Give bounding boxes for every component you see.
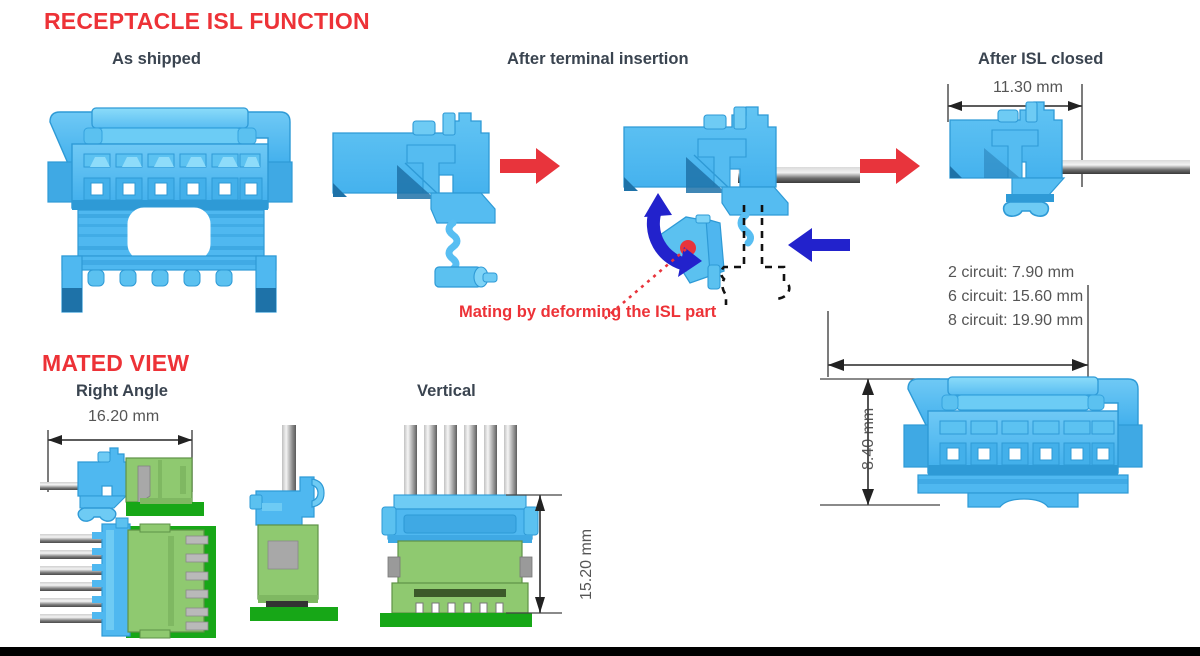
side-view-terminal-inserted-figure [620,105,860,305]
receptacle-front-dimensioned-figure [820,285,1200,525]
panel-title-vertical: Vertical [417,382,476,401]
process-arrow-2 [860,148,920,184]
isl-arm [431,193,495,223]
cavity-row-upper [84,154,260,167]
isl-part-closed [1004,194,1054,216]
dimension-label-vertical-height: 15.20 mm [578,529,596,600]
cable-bundle [40,534,110,623]
push-arrow [788,228,850,262]
cable-lead [1060,160,1190,174]
receptacle-front-view [904,377,1142,507]
receptacle-housing-side [624,107,788,215]
process-arrow-1 [500,148,560,184]
isl-flexible-hinge [449,223,457,269]
panel-title-as-shipped: As shipped [112,50,201,69]
receptacle-isl-function-title: RECEPTACLE ISL FUNCTION [44,8,370,35]
vertical-mated-side-figure [250,425,360,625]
connector-body [72,144,268,210]
dimension-label-2-circuit: 2 circuit: 7.90 mm [948,264,1074,282]
connector-mid-band [78,208,264,260]
isl-closed-dashed-outline [721,205,789,305]
receptacle-housing-side [333,113,489,199]
dimension-label-right-angle-width: 16.20 mm [88,408,159,426]
cable-bundle [404,425,517,503]
dimension-label-isl-closed-width: 11.30 mm [993,79,1063,97]
bottom-bar [0,647,1200,656]
blue-connector-front [382,495,538,543]
mating-note-text: Mating by deforming the ISL part [459,303,716,322]
side-view-isl-open-figure [325,105,515,290]
isl-flexible-hinge [741,215,751,243]
as-shipped-connector-figure [40,100,300,315]
connector-legs [62,256,276,312]
receptacle-housing-side [950,102,1064,196]
vertical-mated-figure [380,425,570,630]
isl-part-open [435,267,497,287]
right-angle-plan-view [40,518,216,638]
green-header-side [258,525,318,607]
cavity-row-lower [940,443,1114,465]
right-angle-side-profile [40,448,204,521]
cavity-row-upper [940,421,1114,434]
connector-top-rail [84,108,256,144]
isl-closed-figure [940,82,1190,217]
right-angle-mated-figure [40,430,260,640]
pcb-board [380,613,532,627]
pcb-board [250,607,338,621]
dimension-circuit-width [828,285,1088,377]
panel-title-after-isl-closed: After ISL closed [978,50,1103,69]
panel-title-after-terminal-insertion: After terminal insertion [507,50,689,69]
green-header-front [388,541,532,613]
mated-view-title: MATED VIEW [42,350,189,377]
panel-title-right-angle: Right Angle [76,382,168,401]
